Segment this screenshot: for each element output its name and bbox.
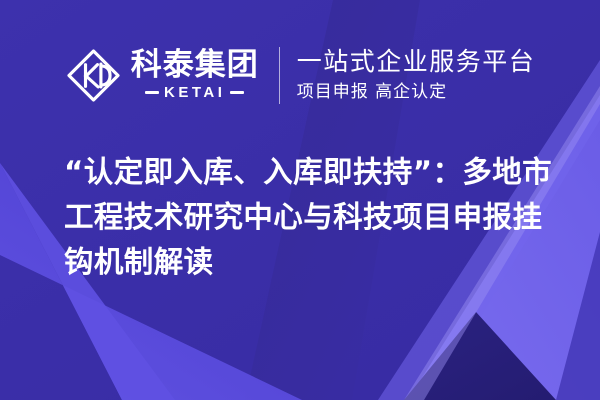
dash-left-icon [145,91,159,94]
banner-header: 科泰集团 KETAI 一站式企业服务平台 项目申报 高企认定 [0,36,600,114]
dash-right-icon [230,91,244,94]
brand-name-en: KETAI [164,85,225,100]
ketai-diamond-kt-monogram-icon [65,47,122,104]
vertical-divider-icon [279,47,280,104]
promo-banner: 科泰集团 KETAI 一站式企业服务平台 项目申报 高企认定 “认定即入库、入库… [0,0,600,400]
brand-name-cn: 科泰集团 [131,50,259,82]
brand-logo[interactable]: 科泰集团 KETAI [65,47,259,104]
page-title: “认定即入库、入库即扶持”：多地市工程技术研究中心与科技项目申报挂钩机制解读 [64,150,559,284]
slogan-primary: 一站式企业服务平台 [297,48,536,77]
brand-name-en-row: KETAI [145,85,244,100]
slogan-secondary: 项目申报 高企认定 [297,82,536,102]
slogan-block: 一站式企业服务平台 项目申报 高企认定 [297,48,536,102]
brand-wordmark: 科泰集团 KETAI [131,50,259,100]
